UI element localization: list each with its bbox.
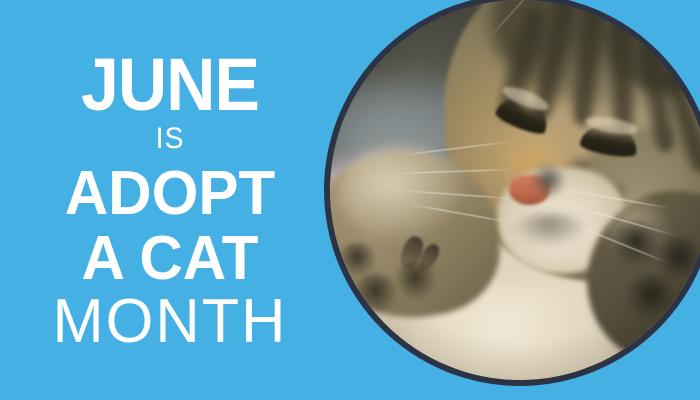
headline-line-adopt: ADOPT <box>5 163 335 225</box>
headline-line-a-cat: A CAT <box>5 228 335 290</box>
photo-vignette <box>330 0 700 380</box>
headline-line-is: IS <box>9 124 332 154</box>
headline-line-month: MONTH <box>2 291 339 353</box>
cat-photo-circle <box>330 0 700 380</box>
headline-line-june: JUNE <box>14 48 327 122</box>
headline-text-block: JUNE IS ADOPT A CAT MONTH <box>0 0 340 400</box>
cat-photo-image <box>330 0 700 380</box>
adopt-a-cat-banner: JUNE IS ADOPT A CAT MONTH <box>0 0 700 400</box>
